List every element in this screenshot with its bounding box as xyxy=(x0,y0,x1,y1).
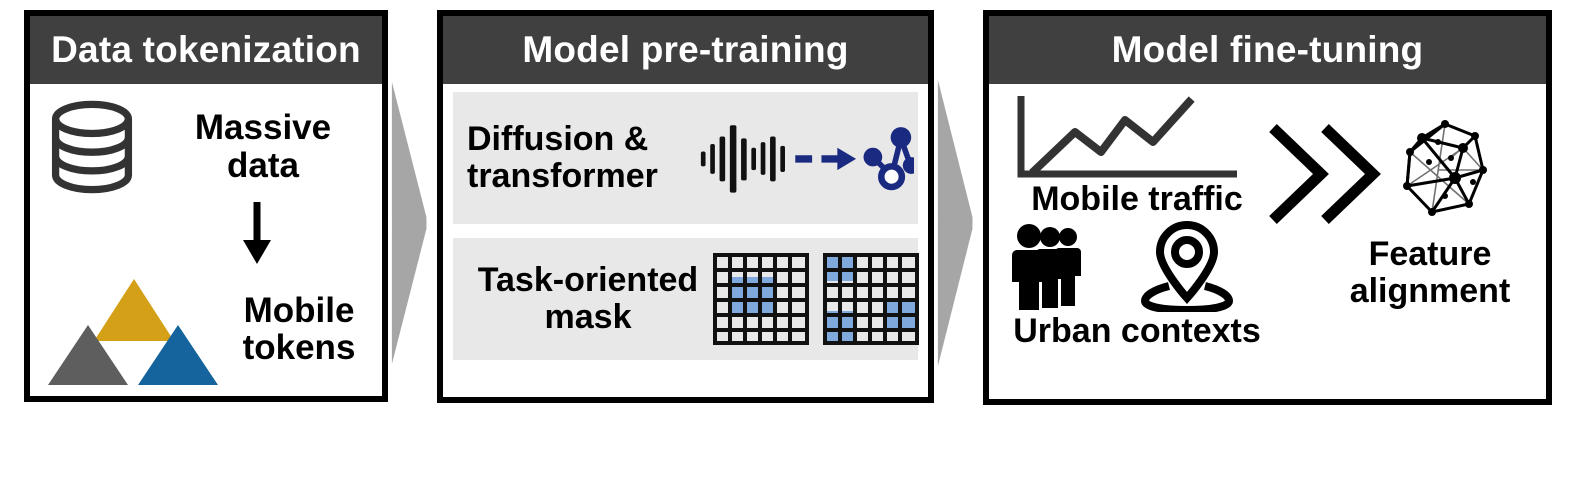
triangle-gray xyxy=(48,325,128,385)
connector-arrow-1 xyxy=(390,82,438,364)
diffusion-label-line1: Diffusion & xyxy=(467,121,699,158)
network-graph-icon xyxy=(1385,108,1505,228)
panel-2-header: Model pre-training xyxy=(443,16,928,84)
panel-model-pre-training: Model pre-training Diffusion & transform… xyxy=(437,10,934,403)
massive-data-label: Massive data xyxy=(146,109,380,184)
feature-alignment-line2: alignment xyxy=(1309,273,1551,310)
panel-1-title: Data tokenization xyxy=(51,29,361,71)
panel-2-body: Diffusion & transformer xyxy=(443,84,928,397)
panel-1-body: Massive data Mobile tokens xyxy=(30,84,382,396)
massive-data-label-line2: data xyxy=(146,147,380,184)
panel-1-header: Data tokenization xyxy=(30,16,382,84)
connector-arrow-2 xyxy=(936,80,984,366)
panel-3-title: Model fine-tuning xyxy=(1112,29,1424,71)
card-diffusion-transformer: Diffusion & transformer xyxy=(453,92,918,224)
card-task-oriented-mask: Task-oriented mask xyxy=(453,238,918,360)
urban-contexts-label: Urban contexts xyxy=(989,312,1285,351)
task-oriented-mask-label: Task-oriented mask xyxy=(463,262,713,335)
panel-3-header: Model fine-tuning xyxy=(989,16,1546,84)
triangle-blue xyxy=(138,325,218,385)
mobile-traffic-label: Mobile traffic xyxy=(997,180,1277,219)
line-chart-icon xyxy=(1013,96,1237,180)
mobile-tokens-label-line2: tokens xyxy=(216,329,382,366)
masked-grids-icon xyxy=(713,253,919,345)
mask-label-line2: mask xyxy=(463,299,713,336)
waveform-to-graph-icon xyxy=(699,115,914,201)
mask-grid-scattered xyxy=(823,253,919,345)
triangles-icon xyxy=(38,273,216,385)
panel-2-title: Model pre-training xyxy=(522,29,848,71)
panel-model-fine-tuning: Model fine-tuning Mobile traffic xyxy=(983,10,1552,405)
double-chevron-icon xyxy=(1267,122,1385,226)
figure-canvas: Data tokenization Massive data xyxy=(0,0,1580,504)
people-icon xyxy=(1011,224,1093,310)
feature-alignment-label: Feature alignment xyxy=(1309,236,1551,309)
diffusion-transformer-label: Diffusion & transformer xyxy=(467,121,699,194)
mask-grid-block xyxy=(713,253,809,345)
massive-data-row: Massive data xyxy=(40,94,380,199)
panel-data-tokenization: Data tokenization Massive data xyxy=(24,10,388,402)
down-arrow-icon xyxy=(235,202,279,264)
map-pin-icon xyxy=(1141,220,1233,312)
feature-alignment-line1: Feature xyxy=(1309,236,1551,273)
panel-3-body: Mobile traffic Urban context xyxy=(989,84,1546,399)
mobile-tokens-label: Mobile tokens xyxy=(216,292,382,367)
database-icon xyxy=(40,99,144,195)
mobile-tokens-row: Mobile tokens xyxy=(38,270,382,388)
mask-label-line1: Task-oriented xyxy=(463,262,713,299)
massive-data-label-line1: Massive xyxy=(146,109,380,146)
diffusion-label-line2: transformer xyxy=(467,158,699,195)
mobile-tokens-label-line1: Mobile xyxy=(216,292,382,329)
